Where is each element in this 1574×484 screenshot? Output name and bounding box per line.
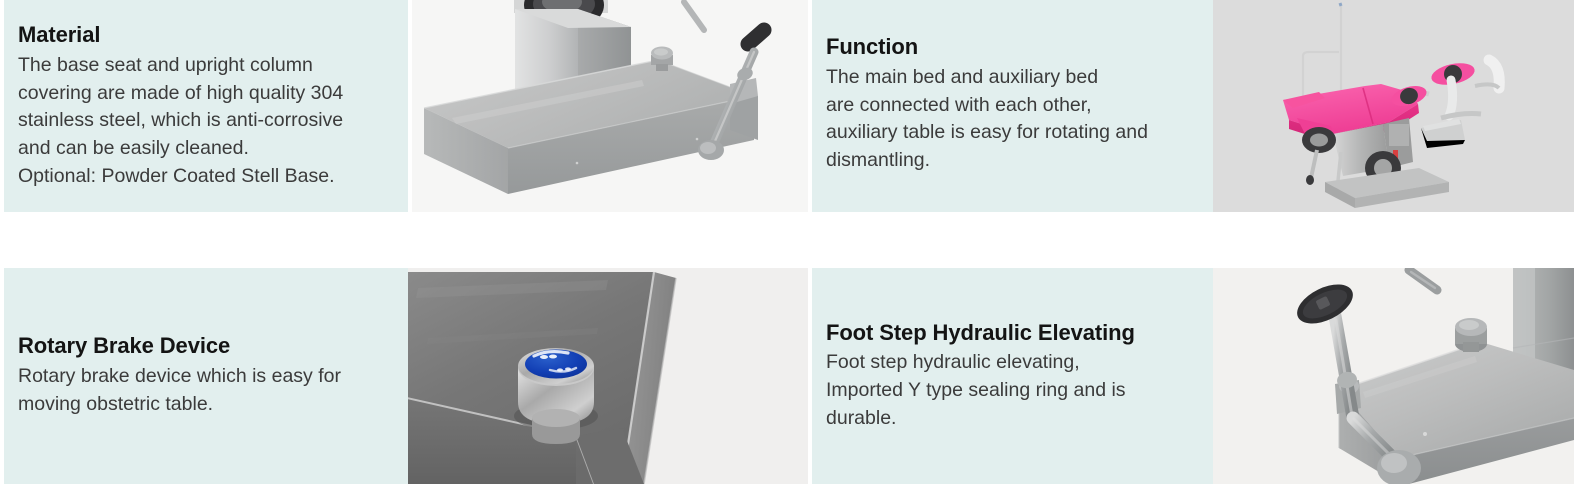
rotary-brake-description: Rotary brake device which is easy for mo… [18,363,394,418]
foot-step-title: Foot Step Hydraulic Elevating [826,320,1199,347]
blue-rotary-brake-knob-photo [408,268,808,484]
rotary-brake-title: Rotary Brake Device [18,333,394,360]
feature-grid: Material The base seat and upright colum… [0,0,1574,484]
material-title: Material [18,22,394,49]
foot-step-text-pane: Foot Step Hydraulic Elevating Foot step … [812,268,1213,484]
function-description: The main bed and auxiliary bed are conne… [826,64,1199,175]
feature-card-function: Function The main bed and auxiliary bed … [812,0,1574,212]
material-text-pane: Material The base seat and upright colum… [4,0,408,212]
feature-card-material: Material The base seat and upright colum… [4,0,808,212]
material-description: The base seat and upright column coverin… [18,52,394,190]
rotary-brake-text-pane: Rotary Brake Device Rotary brake device … [4,268,408,484]
foot-step-hydraulic-pedal-photo [1213,268,1574,484]
foot-step-description: Foot step hydraulic elevating, Imported … [826,349,1199,432]
feature-card-foot-step: Foot Step Hydraulic Elevating Foot step … [812,268,1574,484]
function-text-pane: Function The main bed and auxiliary bed … [812,0,1213,212]
stainless-steel-base-photo [412,0,808,212]
feature-card-rotary-brake: Rotary Brake Device Rotary brake device … [4,268,808,484]
function-title: Function [826,34,1199,61]
pink-obstetric-table-photo [1213,0,1574,212]
